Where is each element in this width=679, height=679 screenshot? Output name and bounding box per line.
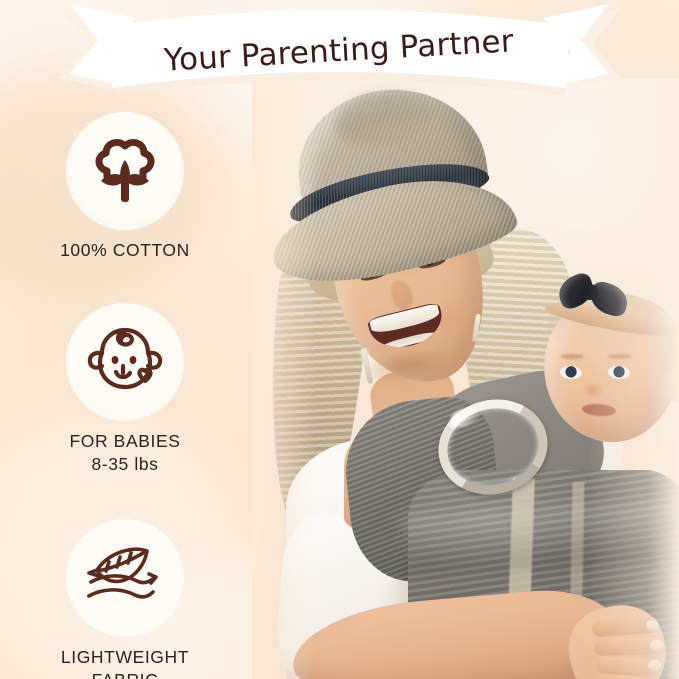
feather-fabric-icon (79, 538, 171, 618)
page-title: Your Parenting Partner (163, 23, 515, 78)
fingernail (648, 660, 661, 671)
cotton-boll-icon (82, 128, 168, 214)
fingernail (646, 620, 659, 631)
baby-nose (582, 382, 604, 398)
feature-label-lightweight: LIGHTWEIGHT FABRIC (61, 646, 189, 679)
feature-item-lightweight[interactable]: LIGHTWEIGHT FABRIC (0, 519, 250, 679)
feature-label-main: LIGHTWEIGHT (61, 647, 189, 667)
feature-label-sub: FABRIC (61, 669, 189, 679)
headline-wrap: Your Parenting Partner (0, 0, 679, 110)
feature-item-babies[interactable]: FOR BABIES 8-35 lbs (0, 303, 250, 475)
feature-label-sub: 8-35 lbs (69, 453, 180, 475)
product-photo (252, 78, 679, 679)
feature-list: 100% COTTON (0, 108, 250, 679)
headline-ribbon: Your Parenting Partner (0, 0, 679, 110)
feature-label-cotton: 100% COTTON (60, 239, 190, 261)
baby-bow-knot (582, 284, 598, 300)
feature-badge (66, 112, 184, 230)
baby-eyebrow-left (560, 354, 584, 359)
feature-label-main: 100% COTTON (60, 240, 190, 260)
product-infographic: Your Parenting Partner (0, 0, 679, 679)
fingernail (650, 640, 663, 651)
feature-label-babies: FOR BABIES 8-35 lbs (69, 430, 180, 475)
feature-badge (66, 519, 184, 637)
baby-cheek (634, 390, 670, 420)
feature-label-main: FOR BABIES (69, 431, 180, 451)
feature-item-cotton[interactable]: 100% COTTON (0, 112, 250, 261)
feature-badge (66, 303, 184, 421)
baby-face-icon (80, 319, 170, 405)
baby-eyebrow-right (608, 354, 632, 359)
